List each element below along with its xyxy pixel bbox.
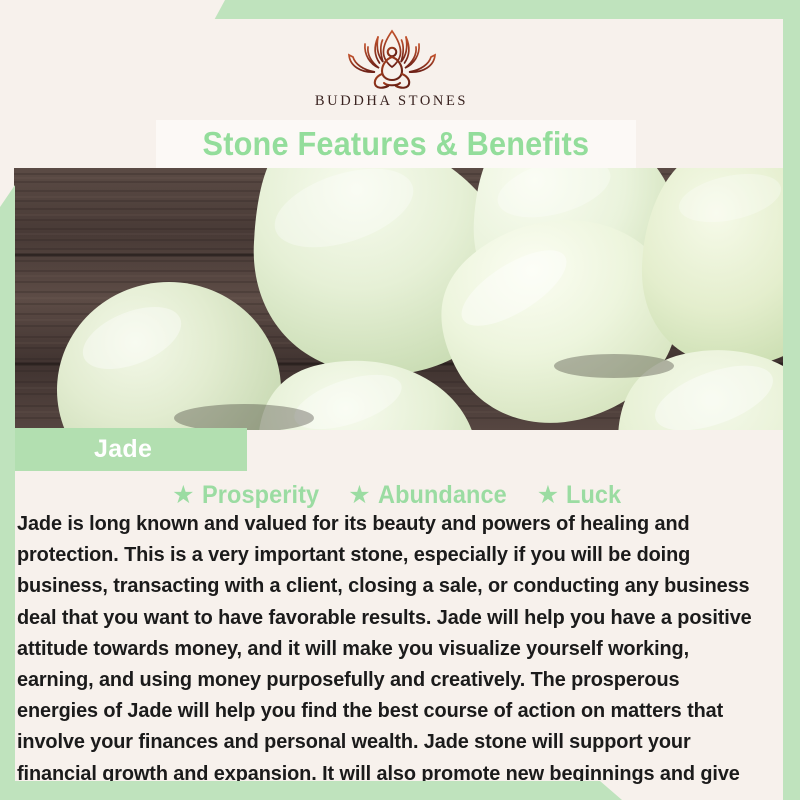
- stone-name-label: Jade: [94, 435, 152, 464]
- stone-name-banner: Jade: [14, 428, 247, 471]
- benefit-item: ★ Abundance: [348, 481, 514, 510]
- jade-stones-photo: [14, 168, 783, 430]
- lotus-meditation-icon: [332, 24, 452, 90]
- right-green-accent-strip: [783, 0, 800, 800]
- jade-stones-photo-art: [14, 168, 783, 430]
- benefit-label: Abundance: [378, 481, 507, 510]
- benefit-item: ★ Luck: [537, 481, 625, 510]
- star-icon: ★: [172, 483, 194, 508]
- benefit-label: Prosperity: [202, 481, 319, 510]
- star-icon: ★: [537, 483, 559, 508]
- benefit-label: Luck: [566, 481, 621, 510]
- infographic-canvas: BUDDHA STONES Stone Features & Benefits: [0, 0, 800, 800]
- benefits-row: ★ Prosperity ★ Abundance ★ Luck: [14, 478, 783, 512]
- page-title: Stone Features & Benefits: [203, 125, 590, 163]
- brand-logo: BUDDHA STONES: [0, 24, 783, 116]
- brand-name: BUDDHA STONES: [315, 93, 468, 110]
- bottom-green-accent-band: [0, 781, 640, 800]
- title-band: Stone Features & Benefits: [156, 120, 636, 168]
- stone-description: Jade is long known and valued for its be…: [17, 509, 764, 800]
- star-icon: ★: [348, 483, 370, 508]
- benefit-item: ★ Prosperity: [172, 481, 326, 510]
- left-green-accent-strip: [0, 185, 15, 782]
